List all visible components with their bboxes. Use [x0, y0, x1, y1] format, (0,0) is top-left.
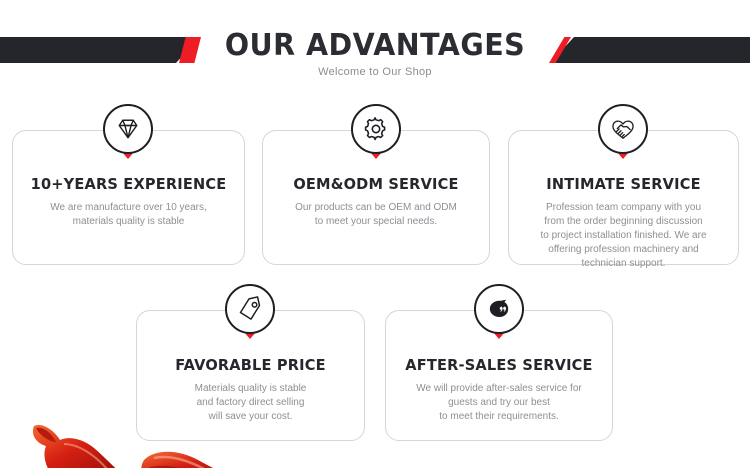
card-body-line: offering profession machinery and [519, 243, 728, 257]
advantages-banner: OUR ADVANTAGES Welcome to Our Shop 10+YE… [0, 0, 750, 468]
diamond-icon [103, 104, 153, 154]
card-body: Materials quality is stable and factory … [137, 382, 364, 424]
price-tag-icon [225, 284, 275, 334]
card-body-line: to project installation finished. We are [519, 229, 728, 243]
card-body-line: technician support. [519, 257, 728, 271]
card-body-line: We are manufacture over 10 years, [23, 201, 234, 215]
card-body-line: from the order beginning discussion [519, 215, 728, 229]
chili-pepper-decoration [24, 418, 144, 468]
card-body-line: Profession team company with you [519, 201, 728, 215]
card-title: INTIMATE SERVICE [512, 175, 734, 193]
card-body-line: materials quality is stable [23, 215, 234, 229]
card-body-line: to meet their requirements. [396, 410, 602, 424]
chat-bubble-icon [474, 284, 524, 334]
card-body: Profession team company with you from th… [509, 201, 738, 271]
page-title: OUR ADVANTAGES [19, 28, 732, 63]
card-body-line: and factory direct selling [147, 396, 354, 410]
handshake-heart-icon [598, 104, 648, 154]
card-body-line: will save your cost. [147, 410, 354, 424]
gear-icon [351, 104, 401, 154]
header: OUR ADVANTAGES Welcome to Our Shop [0, 0, 750, 92]
page-subtitle: Welcome to Our Shop [0, 66, 750, 78]
card-body: Our products can be OEM and ODM to meet … [263, 201, 489, 229]
card-body: We will provide after-sales service for … [386, 382, 612, 424]
card-body: We are manufacture over 10 years, materi… [13, 201, 244, 229]
card-body-line: to meet your special needs. [273, 215, 479, 229]
card-body-line: guests and try our best [396, 396, 602, 410]
card-body-line: We will provide after-sales service for [396, 382, 602, 396]
card-title: 10+YEARS EXPERIENCE [16, 175, 240, 193]
card-body-line: Materials quality is stable [147, 382, 354, 396]
card-title: AFTER-SALES SERVICE [389, 356, 608, 374]
card-title: FAVORABLE PRICE [140, 356, 360, 374]
chili-pepper-decoration [140, 444, 270, 468]
card-title: OEM&ODM SERVICE [266, 175, 485, 193]
card-body-line: Our products can be OEM and ODM [273, 201, 479, 215]
